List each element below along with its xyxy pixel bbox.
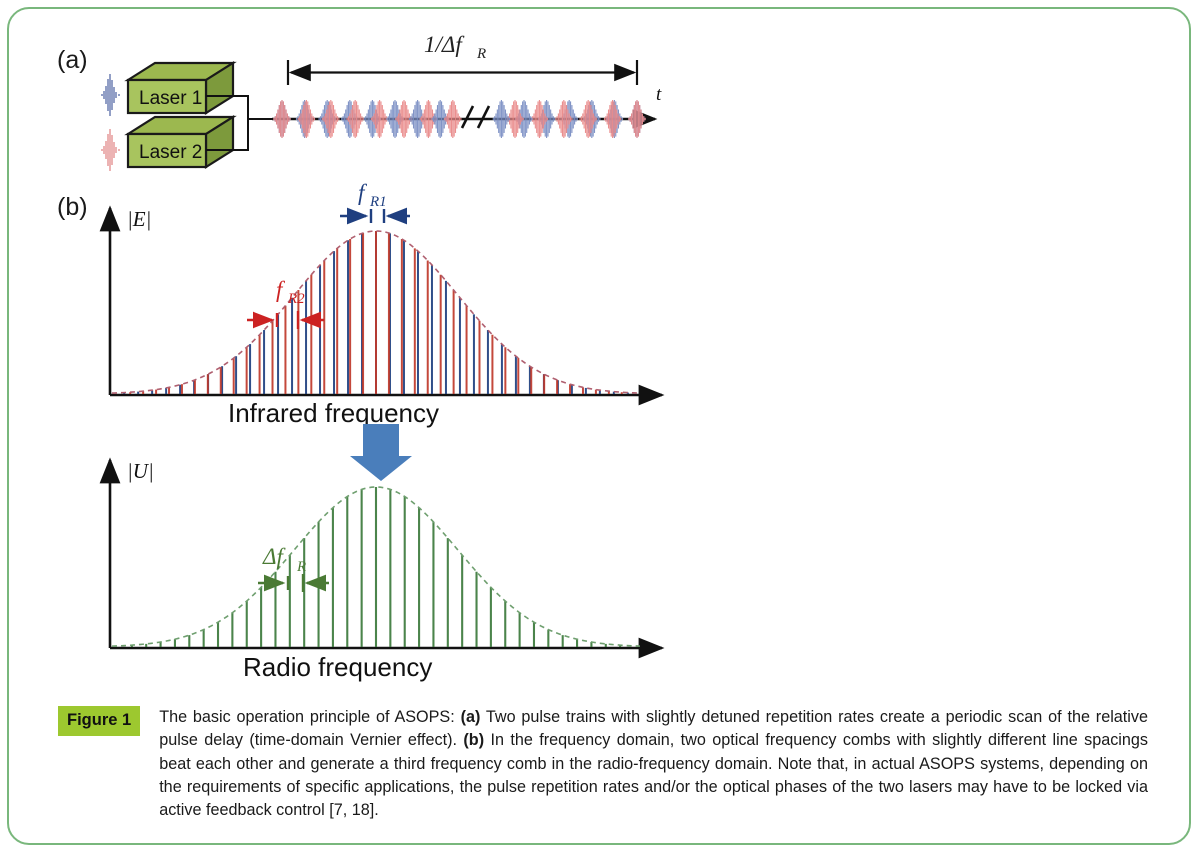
fr1-annotation: f R1: [340, 180, 410, 223]
figure-caption: Figure 1 The basic operation principle o…: [58, 706, 1148, 823]
fr2-label-sub: R2: [287, 291, 305, 307]
figure-badge: Figure 1: [58, 706, 140, 736]
upper-chart-y-label: |E|: [127, 207, 151, 231]
time-axis-label: t: [656, 84, 662, 105]
panel-b-label: (b): [57, 193, 88, 221]
lower-chart-y-label: |U|: [127, 459, 154, 483]
laser-1-box[interactable]: Laser 1: [128, 63, 233, 113]
laser-2-label: Laser 2: [139, 142, 202, 163]
laser-2-pulse-icon: [101, 129, 120, 171]
fr1-label-sub: R1: [369, 194, 387, 210]
period-label-sub: R: [476, 46, 486, 62]
figure-graphic: (a) Laser 1: [0, 0, 1200, 700]
upper-chart: |E| Infrared frequency: [110, 207, 662, 428]
laser-1-label: Laser 1: [139, 88, 202, 109]
upper-chart-x-label: Infrared frequency: [228, 398, 439, 428]
upper-chart-comb-lines: [124, 231, 628, 394]
transform-arrow-icon: [350, 424, 412, 481]
panel-a-label: (a): [57, 46, 88, 74]
lower-chart-comb-lines: [132, 487, 620, 647]
fr1-label: f: [358, 180, 368, 205]
lower-chart: |U| Radio frequency: [110, 459, 662, 682]
period-measure-arrow: [288, 60, 637, 85]
pulse-train: [274, 100, 645, 138]
laser-1-pulse-icon: [101, 74, 120, 116]
lower-chart-x-label: Radio frequency: [243, 652, 432, 682]
figure-page: (a) Laser 1: [0, 0, 1200, 854]
fr2-label: f: [276, 277, 286, 302]
figure-caption-text: The basic operation principle of ASOPS: …: [159, 706, 1148, 823]
dfr-label-sub: R: [296, 559, 306, 575]
axis-break-icon: [462, 106, 489, 128]
period-label: 1/Δf: [424, 32, 465, 57]
dfr-label: Δf: [262, 544, 286, 569]
laser-2-box[interactable]: Laser 2: [128, 117, 233, 167]
